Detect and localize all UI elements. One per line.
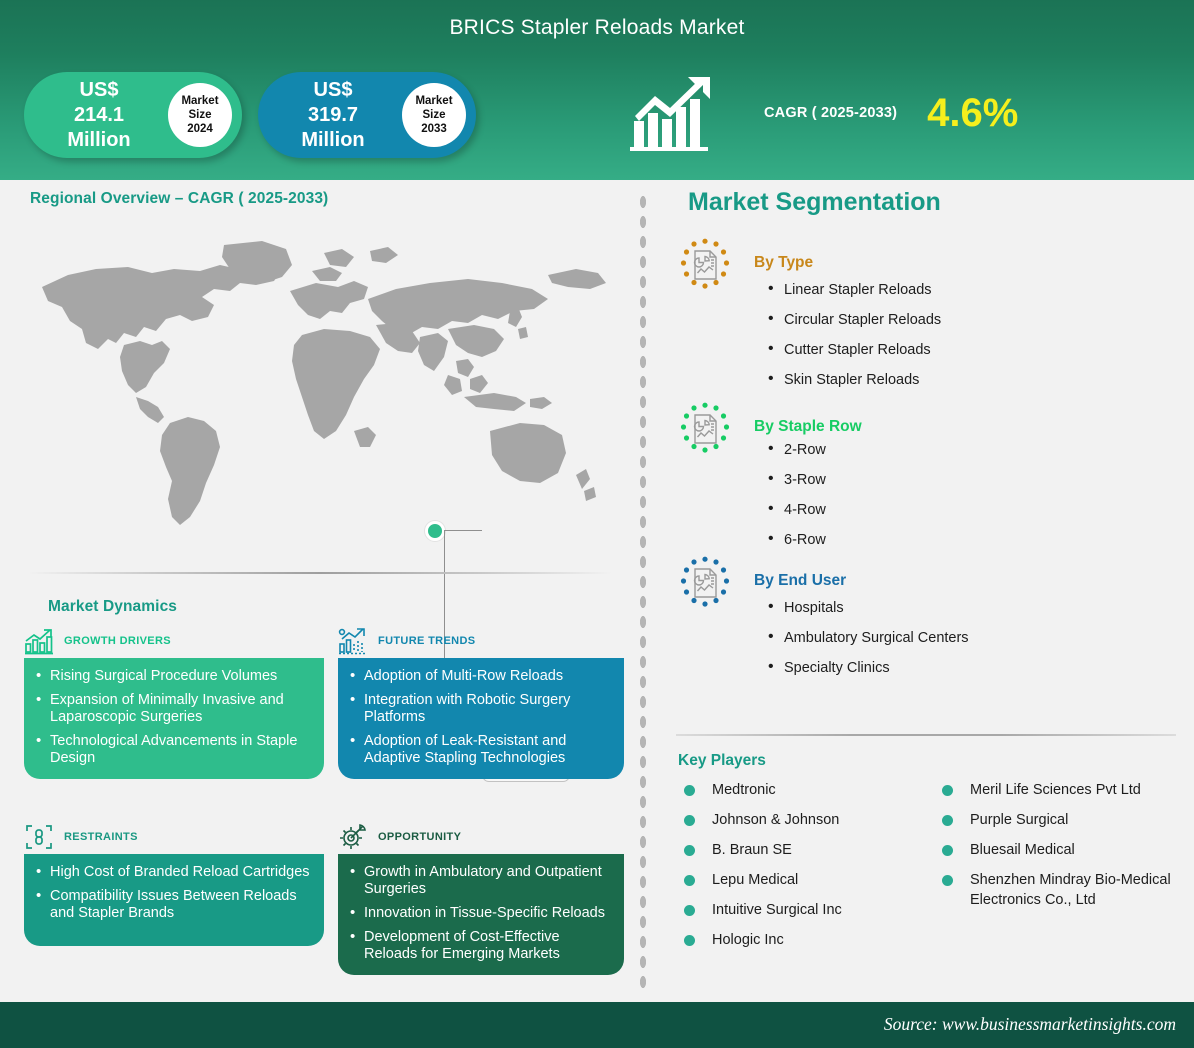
market-dynamics-title: Market Dynamics <box>48 598 177 616</box>
key-players-column-right: Meril Life Sciences Pvt Ltd Purple Surgi… <box>936 780 1194 960</box>
restraints-card: RESTRAINTS High Cost of Branded Reload C… <box>24 820 324 946</box>
segment-list-by-type: Linear Stapler Reloads Circular Stapler … <box>766 280 941 400</box>
list-item: Intuitive Surgical Inc <box>678 900 936 920</box>
list-item: Skin Stapler Reloads <box>766 370 941 390</box>
document-pie-chart-icon <box>678 402 732 456</box>
list-item: B. Braun SE <box>678 840 936 860</box>
badge-line2-2024: Size <box>188 108 211 122</box>
list-item: Technological Advancements in Staple Des… <box>36 733 310 767</box>
list-item: Medtronic <box>678 780 936 800</box>
list-item: Integration with Robotic Surgery Platfor… <box>350 692 610 726</box>
list-item: Growth in Ambulatory and Outpatient Surg… <box>350 864 610 898</box>
market-size-badge-2024: Market Size 2024 <box>168 83 232 147</box>
list-item: Specialty Clinics <box>766 658 969 678</box>
list-item: Bluesail Medical <box>936 840 1194 860</box>
opportunity-card: OPPORTUNITY Growth in Ambulatory and Out… <box>338 820 624 975</box>
value-2033: 319.7 <box>264 103 402 128</box>
list-item: 3-Row <box>766 470 826 490</box>
market-size-2024-value: US$ 214.1 Million <box>24 78 168 153</box>
segment-list-by-end-user: Hospitals Ambulatory Surgical Centers Sp… <box>766 598 969 688</box>
list-item: Innovation in Tissue-Specific Reloads <box>350 905 610 922</box>
market-size-badge-2033: Market Size 2033 <box>402 83 466 147</box>
segment-heading-by-staple-row: By Staple Row <box>754 418 862 436</box>
opportunity-header: OPPORTUNITY <box>338 820 624 854</box>
list-item: Linear Stapler Reloads <box>766 280 941 300</box>
value-2024: 214.1 <box>30 103 168 128</box>
list-item: Compatibility Issues Between Reloads and… <box>36 888 310 922</box>
list-item: Expansion of Minimally Invasive and Lapa… <box>36 692 310 726</box>
section-divider <box>28 572 612 574</box>
future-trends-label: FUTURE TRENDS <box>378 635 475 647</box>
future-trends-header: FUTURE TRENDS <box>338 624 624 658</box>
list-item: 2-Row <box>766 440 826 460</box>
growth-drivers-card: GROWTH DRIVERS Rising Surgical Procedure… <box>24 624 324 779</box>
world-map-svg <box>24 225 610 545</box>
growth-drivers-box: Rising Surgical Procedure Volumes Expans… <box>24 658 324 779</box>
list-item: Hologic Inc <box>678 930 936 950</box>
left-column: Regional Overview – CAGR ( 2025-2033) <box>0 180 630 1002</box>
list-item: 4-Row <box>766 500 826 520</box>
footer-bar: Source: www.businessmarketinsights.com <box>0 1002 1194 1048</box>
key-players-columns: Medtronic Johnson & Johnson B. Braun SE … <box>678 780 1194 960</box>
callout-leader-horizontal <box>444 530 482 531</box>
list-item: Ambulatory Surgical Centers <box>766 628 969 648</box>
currency-label-2024: US$ <box>30 78 168 103</box>
growth-chart-arrow-icon <box>630 75 716 151</box>
list-item: Hospitals <box>766 598 969 618</box>
list-item: Circular Stapler Reloads <box>766 310 941 330</box>
market-segmentation-title: Market Segmentation <box>688 188 941 217</box>
unit-2024: Million <box>30 128 168 153</box>
badge-year-2024: 2024 <box>187 122 213 136</box>
restraints-list: High Cost of Branded Reload Cartridges C… <box>36 864 310 922</box>
body-area: Regional Overview – CAGR ( 2025-2033) <box>0 180 1194 1002</box>
key-players-column-left: Medtronic Johnson & Johnson B. Braun SE … <box>678 780 936 960</box>
bar-chart-up-arrow-icon <box>24 627 54 655</box>
opportunity-list: Growth in Ambulatory and Outpatient Surg… <box>350 864 610 963</box>
segment-list-by-staple-row: 2-Row 3-Row 4-Row 6-Row <box>766 440 826 560</box>
growth-drivers-header: GROWTH DRIVERS <box>24 624 324 658</box>
list-item: Purple Surgical <box>936 810 1194 830</box>
map-pin-dot-icon <box>425 521 445 541</box>
market-size-pill-2033: US$ 319.7 Million Market Size 2033 <box>258 72 476 158</box>
badge-year-2033: 2033 <box>421 122 447 136</box>
header-banner: BRICS Stapler Reloads Market US$ 214.1 M… <box>0 0 1194 180</box>
restraints-box: High Cost of Branded Reload Cartridges C… <box>24 854 324 946</box>
list-item: Adoption of Leak-Resistant and Adaptive … <box>350 733 610 767</box>
page-title: BRICS Stapler Reloads Market <box>0 16 1194 40</box>
key-players-list-left: Medtronic Johnson & Johnson B. Braun SE … <box>678 780 936 950</box>
gear-target-icon <box>338 823 368 851</box>
list-item: Lepu Medical <box>678 870 936 890</box>
list-item: Shenzhen Mindray Bio-Medical Electronics… <box>936 870 1194 910</box>
list-item: Adoption of Multi-Row Reloads <box>350 668 610 685</box>
vertical-dotted-divider <box>638 192 648 992</box>
source-text: Source: www.businessmarketinsights.com <box>884 1014 1176 1035</box>
growth-drivers-list: Rising Surgical Procedure Volumes Expans… <box>36 668 310 767</box>
document-pie-chart-icon <box>678 238 732 292</box>
world-map: BRICS 4.6% <box>24 225 610 545</box>
badge-line2-2033: Size <box>422 108 445 122</box>
cagr-block: CAGR ( 2025-2033) 4.6% <box>630 75 1018 151</box>
segment-heading-by-type: By Type <box>754 254 813 272</box>
future-trends-card: FUTURE TRENDS Adoption of Multi-Row Relo… <box>338 624 624 779</box>
future-trends-list: Adoption of Multi-Row Reloads Integratio… <box>350 668 610 767</box>
badge-line1-2033: Market <box>415 94 452 108</box>
unit-2033: Million <box>264 128 402 153</box>
list-item: Meril Life Sciences Pvt Ltd <box>936 780 1194 800</box>
right-column: Market Segmentation <box>660 180 1194 1002</box>
restraints-label: RESTRAINTS <box>64 831 138 843</box>
cagr-value: 4.6% <box>927 93 1018 133</box>
market-size-pill-2024: US$ 214.1 Million Market Size 2024 <box>24 72 242 158</box>
opportunity-label: OPPORTUNITY <box>378 831 461 843</box>
key-players-title: Key Players <box>678 752 766 770</box>
growth-drivers-label: GROWTH DRIVERS <box>64 635 171 647</box>
badge-line1-2024: Market <box>181 94 218 108</box>
trend-forecast-icon <box>338 627 368 655</box>
list-item: Johnson & Johnson <box>678 810 936 830</box>
future-trends-box: Adoption of Multi-Row Reloads Integratio… <box>338 658 624 779</box>
market-size-2033-value: US$ 319.7 Million <box>258 78 402 153</box>
restraints-header: RESTRAINTS <box>24 820 324 854</box>
cagr-label: CAGR ( 2025-2033) <box>764 105 897 121</box>
infographic-page: BRICS Stapler Reloads Market US$ 214.1 M… <box>0 0 1194 1048</box>
list-item: Development of Cost-Effective Reloads fo… <box>350 929 610 963</box>
list-item: Rising Surgical Procedure Volumes <box>36 668 310 685</box>
list-item: High Cost of Branded Reload Cartridges <box>36 864 310 881</box>
regional-overview-title: Regional Overview – CAGR ( 2025-2033) <box>30 190 328 208</box>
currency-label-2033: US$ <box>264 78 402 103</box>
segment-heading-by-end-user: By End User <box>754 572 846 590</box>
chain-link-restraint-icon <box>24 823 54 851</box>
document-pie-chart-icon <box>678 556 732 610</box>
list-item: Cutter Stapler Reloads <box>766 340 941 360</box>
opportunity-box: Growth in Ambulatory and Outpatient Surg… <box>338 854 624 975</box>
key-players-list-right: Meril Life Sciences Pvt Ltd Purple Surgi… <box>936 780 1194 910</box>
list-item: 6-Row <box>766 530 826 550</box>
key-players-divider <box>676 734 1176 736</box>
